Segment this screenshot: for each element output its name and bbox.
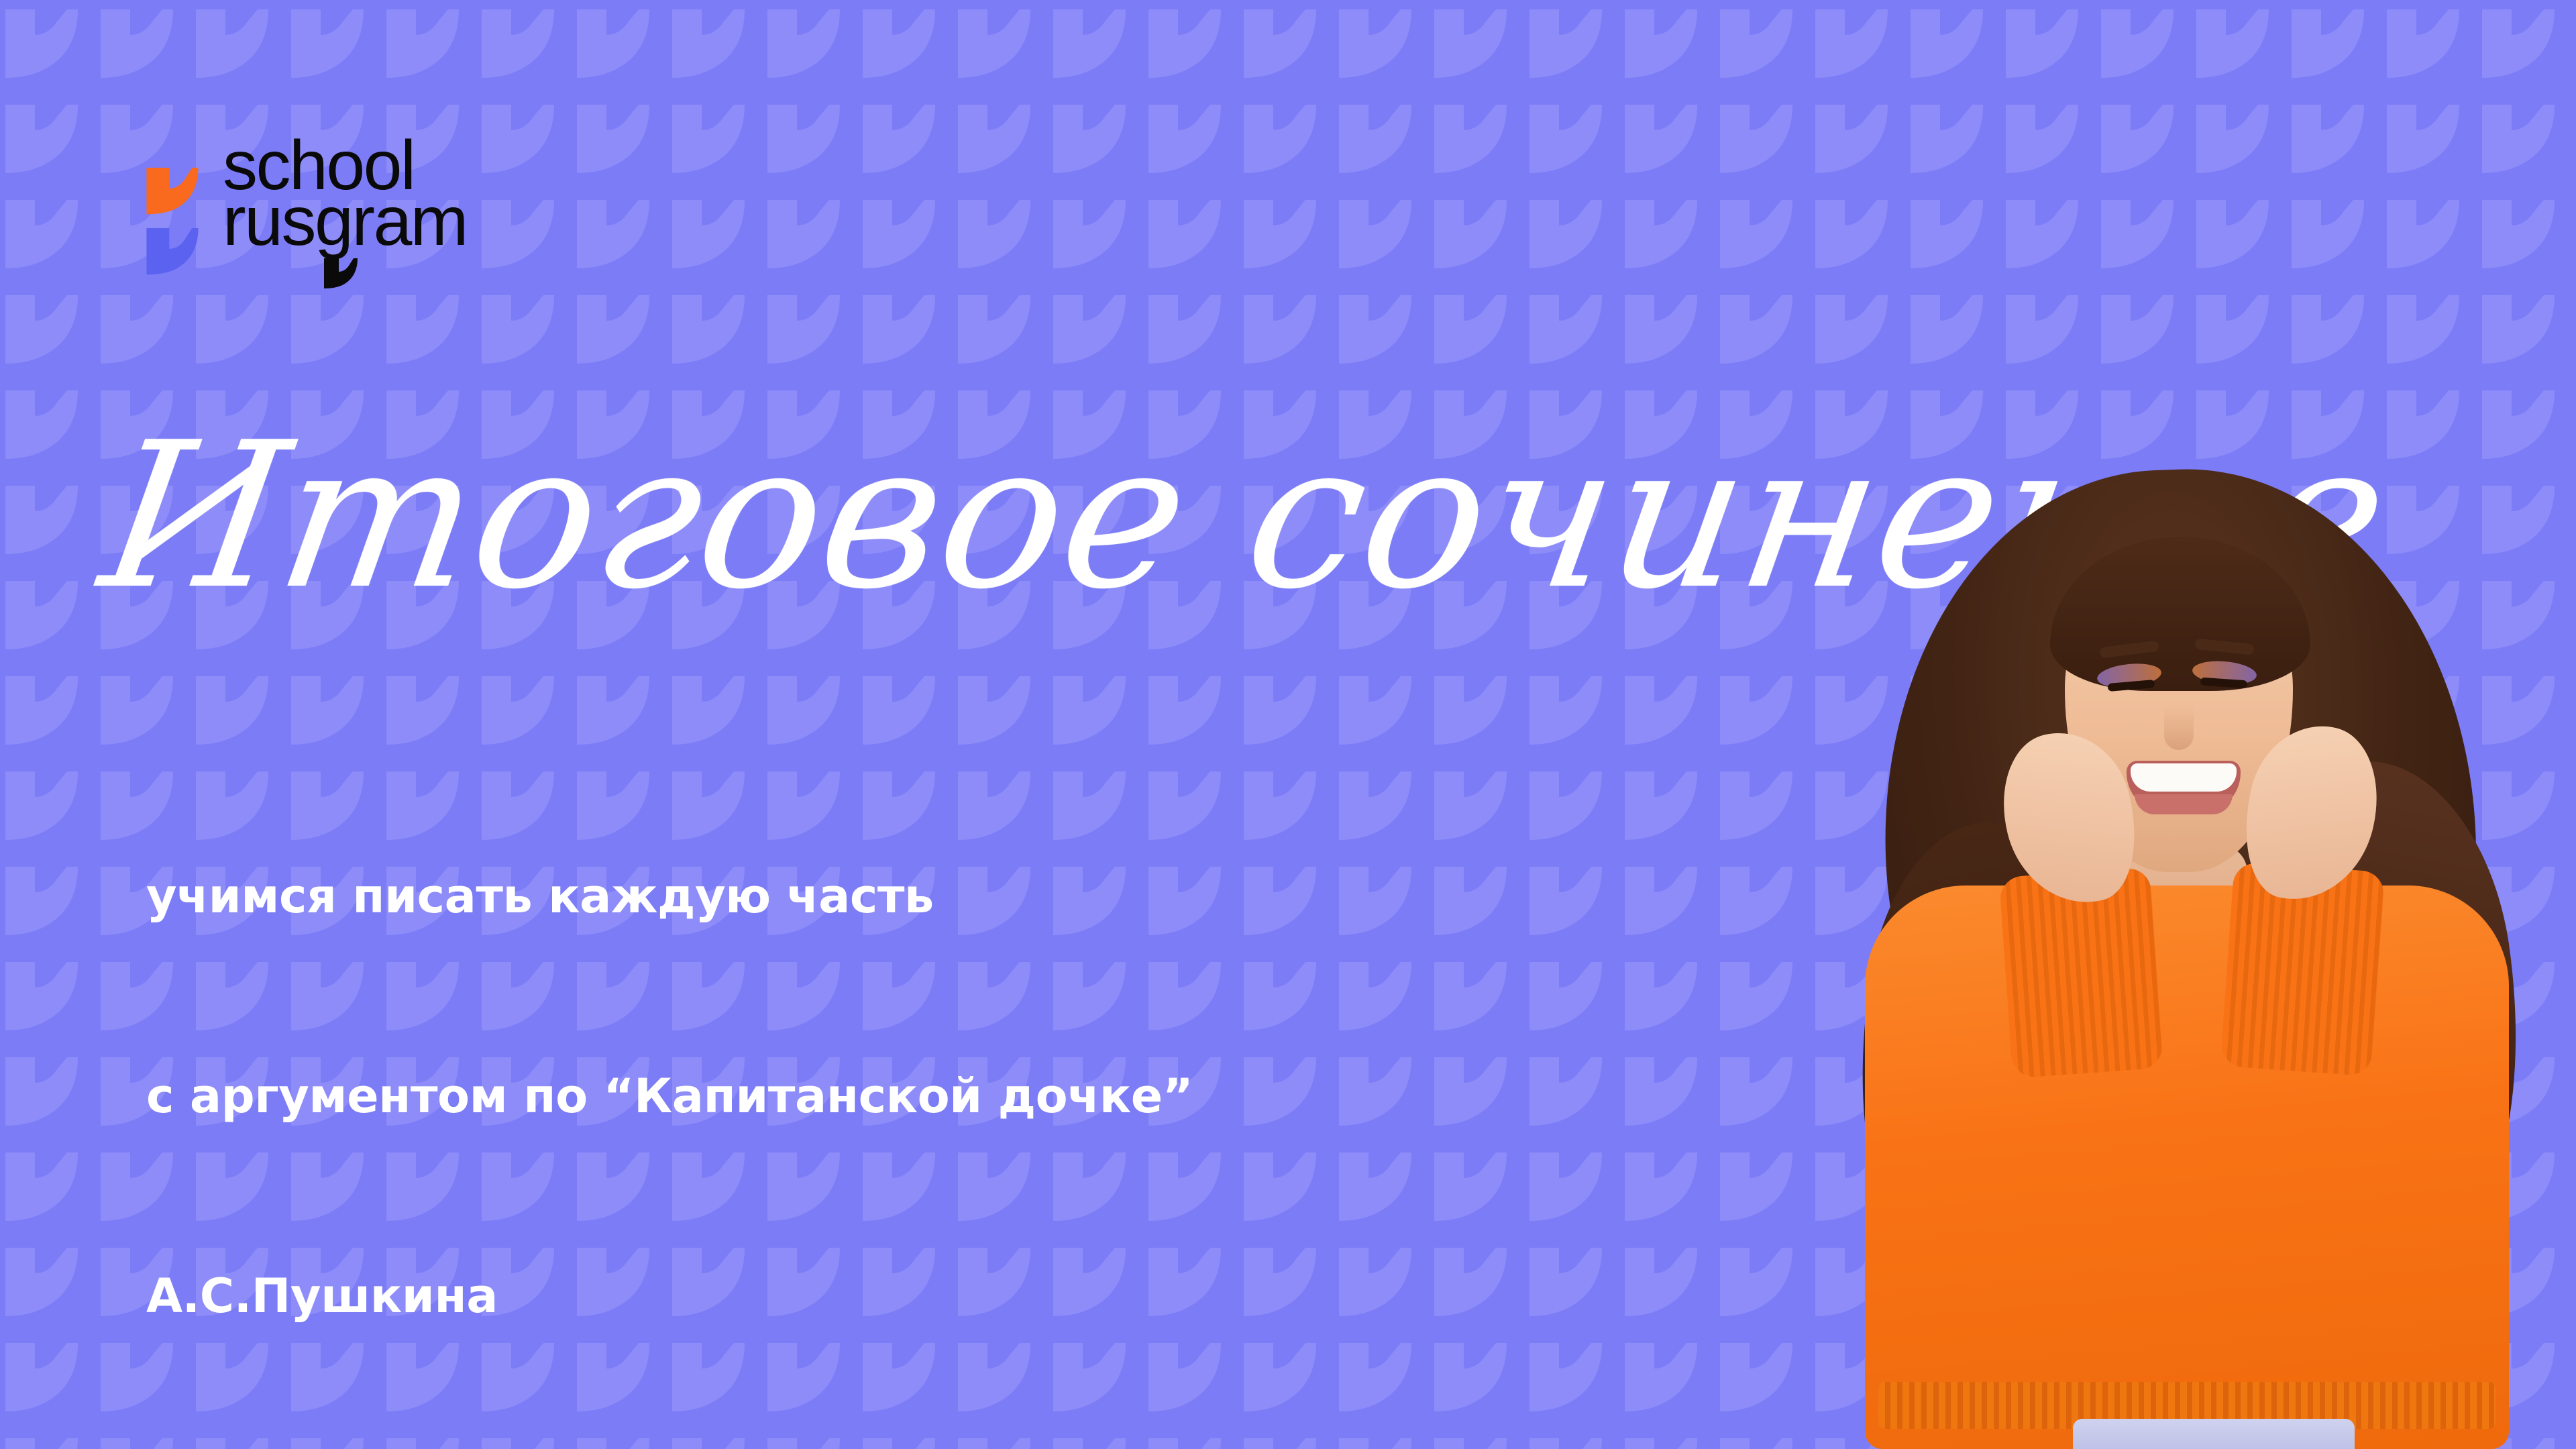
page-title: Итоговое сочинение: [91, 416, 1935, 617]
slide-canvas: school rusgram Итоговое сочинение учимся…: [0, 0, 2576, 1449]
teeth: [2131, 763, 2237, 792]
logo-mark-group: [146, 138, 199, 278]
subtitle-line-3: А.С.Пушкина: [146, 1263, 1193, 1330]
subtitle-line-1: учимся писать каждую часть: [146, 863, 1193, 930]
swoosh-checkmark-black-icon: [323, 258, 358, 290]
logo-word-rusgram-text: rusgram: [223, 182, 467, 260]
trousers: [2073, 1419, 2355, 1449]
swoosh-checkmark-blue-icon: [146, 228, 199, 278]
swoosh-checkmark-orange-icon: [146, 168, 199, 217]
lower-lip: [2135, 794, 2233, 814]
subtitle-line-2: с аргументом по “Капитанской дочке”: [146, 1063, 1193, 1130]
subtitle-block: учимся писать каждую часть с аргументом …: [146, 730, 1193, 1449]
orange-sweater: [1865, 885, 2509, 1449]
presenter-photo: [1784, 443, 2576, 1449]
logo-word-rusgram: rusgram: [223, 194, 467, 250]
brand-logo[interactable]: school rusgram: [146, 138, 467, 278]
nose: [2164, 706, 2194, 750]
logo-wordmark: school rusgram: [223, 138, 467, 250]
